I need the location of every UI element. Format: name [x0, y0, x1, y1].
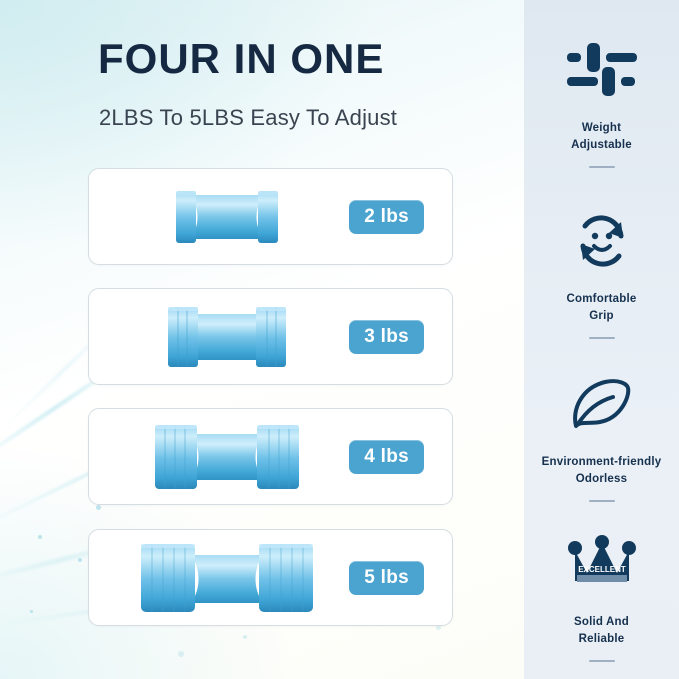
feature-label-line2: Reliable	[579, 633, 625, 645]
weight-card-4lbs[interactable]: 4 lbs	[88, 408, 453, 505]
feature-label: Environment-friendly Odorless	[524, 454, 679, 487]
feature-divider	[589, 166, 615, 168]
weight-card-5lbs[interactable]: 5 lbs	[88, 529, 453, 626]
feature-label-line2: Grip	[589, 310, 613, 322]
feature-label-line2: Adjustable	[571, 139, 632, 151]
feature-divider	[589, 500, 615, 502]
dumbbell-image-2lbs	[107, 169, 347, 264]
dumbbell-5lbs-icon	[121, 535, 333, 621]
feature-solid-reliable: EXCELLENT Solid And Reliable	[524, 528, 679, 662]
feature-label: Comfortable Grip	[524, 291, 679, 324]
feature-divider	[589, 337, 615, 339]
dumbbell-3lbs-icon	[142, 298, 312, 376]
dumbbell-image-5lbs	[107, 530, 347, 625]
feature-label-line1: Environment-friendly	[542, 456, 662, 468]
feature-label-line1: Solid And	[574, 616, 629, 628]
decor-dot	[38, 535, 42, 539]
feature-weight-adjustable: Weight Adjustable	[524, 34, 679, 168]
weight-badge-2lbs: 2 lbs	[349, 200, 424, 234]
page-title: FOUR IN ONE	[98, 38, 384, 80]
feature-environment-friendly: Environment-friendly Odorless	[524, 368, 679, 502]
dumbbell-4lbs-icon	[131, 416, 323, 498]
dumbbell-image-3lbs	[107, 289, 347, 384]
decor-dot	[243, 635, 247, 639]
smiley-refresh-icon	[524, 205, 679, 277]
feature-label-line2: Odorless	[576, 473, 627, 485]
crown-excellent-text: EXCELLENT	[578, 565, 626, 574]
decor-dot	[30, 610, 33, 613]
decor-dot	[178, 651, 184, 657]
weight-card-2lbs[interactable]: 2 lbs	[88, 168, 453, 265]
feature-label: Weight Adjustable	[524, 120, 679, 153]
sliders-icon	[524, 34, 679, 106]
crown-icon: EXCELLENT	[524, 528, 679, 600]
weight-badge-5lbs: 5 lbs	[349, 561, 424, 595]
weight-badge-4lbs: 4 lbs	[349, 440, 424, 474]
feature-label: Solid And Reliable	[524, 614, 679, 647]
feature-label-line1: Comfortable	[567, 293, 637, 305]
decor-dot	[96, 505, 101, 510]
page-subtitle: 2LBS To 5LBS Easy To Adjust	[99, 105, 397, 131]
dumbbell-2lbs-icon	[152, 181, 302, 253]
leaf-icon	[524, 368, 679, 440]
decor-dot	[78, 558, 82, 562]
weight-card-3lbs[interactable]: 3 lbs	[88, 288, 453, 385]
promo-infographic: FOUR IN ONE 2LBS To 5LBS Easy To Adjust	[0, 0, 679, 679]
feature-divider	[589, 660, 615, 662]
feature-label-line1: Weight	[582, 122, 621, 134]
dumbbell-image-4lbs	[107, 409, 347, 504]
feature-comfortable-grip: Comfortable Grip	[524, 205, 679, 339]
weight-badge-3lbs: 3 lbs	[349, 320, 424, 354]
